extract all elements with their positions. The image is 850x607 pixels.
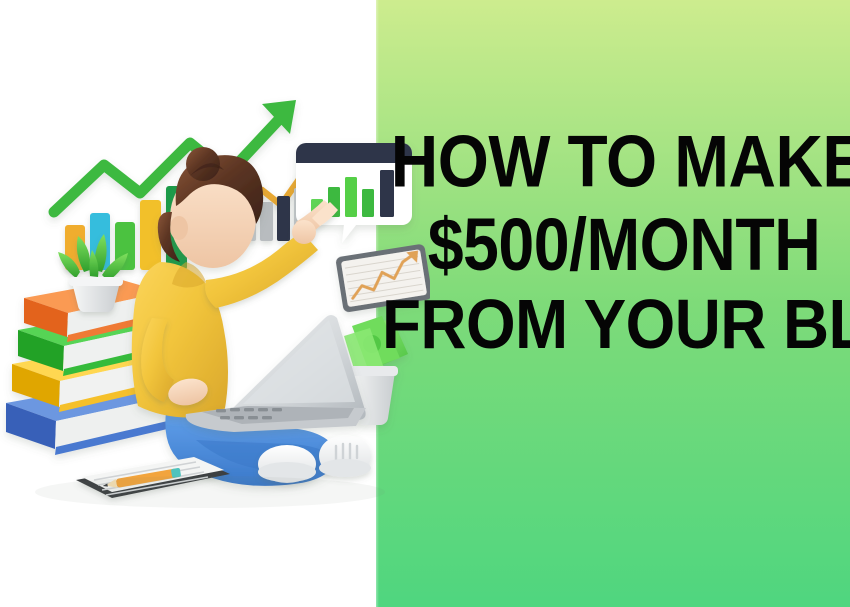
card-bar-4 bbox=[362, 189, 374, 217]
succulent-pot bbox=[72, 282, 120, 312]
hero-illustration bbox=[0, 0, 430, 607]
headline-line-1: HOW TO MAKE bbox=[391, 129, 850, 196]
banner-canvas: HOW TO MAKE $500/MONTH FROM YOUR BLOG bbox=[0, 0, 850, 607]
card-bar-3 bbox=[345, 177, 357, 217]
bar-navy-3 bbox=[277, 196, 290, 241]
page-title: HOW TO MAKE $500/MONTH FROM YOUR BLOG bbox=[404, 134, 844, 351]
bar-4 bbox=[140, 200, 161, 270]
ear bbox=[170, 216, 188, 240]
headline-line-3: FROM YOUR BLOG bbox=[382, 293, 850, 357]
headline-line-2: $500/MONTH bbox=[395, 211, 850, 279]
ground-shadow bbox=[35, 476, 385, 508]
